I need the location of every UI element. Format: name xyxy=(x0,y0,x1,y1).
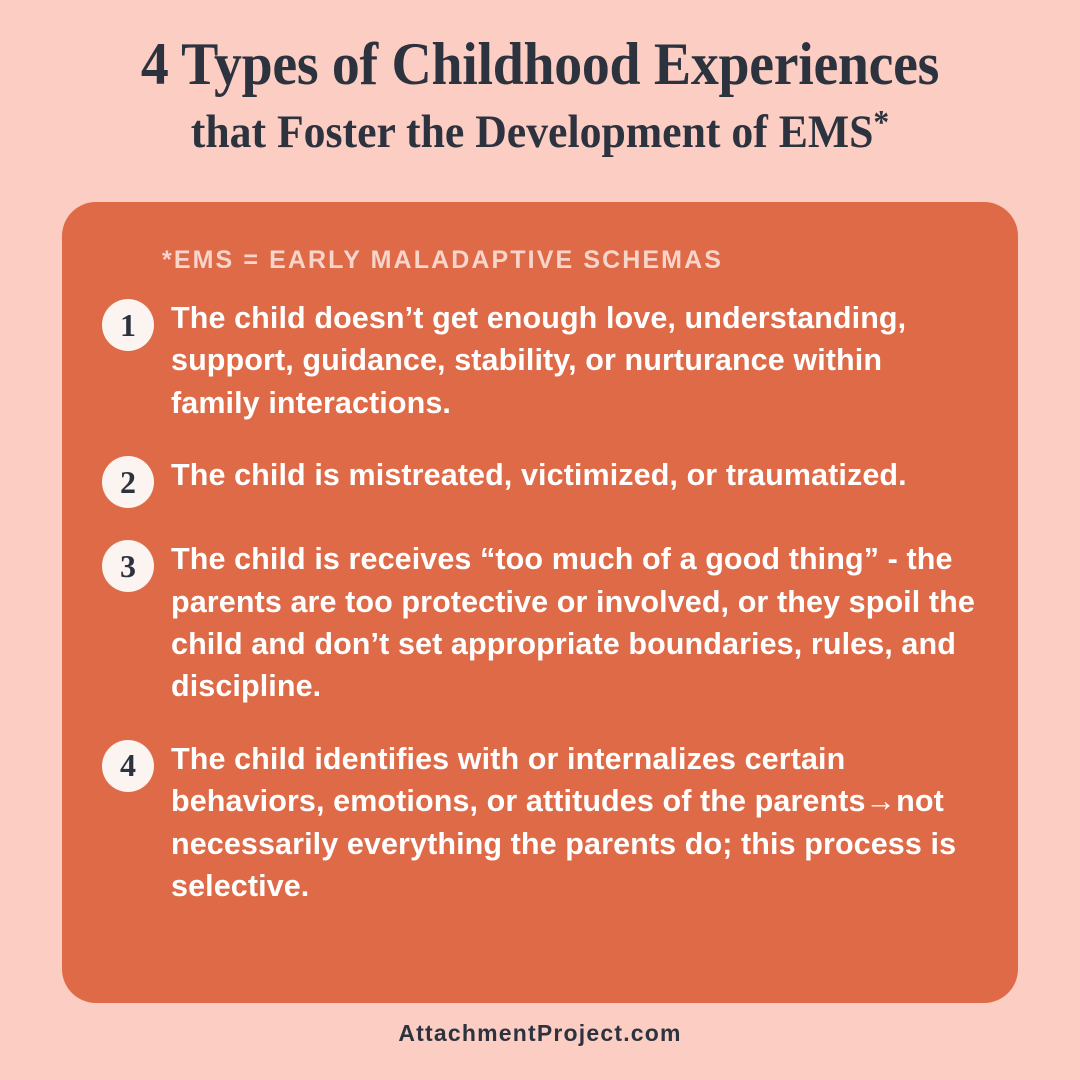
content-card: *EMS = EARLY MALADAPTIVE SCHEMAS 1 The c… xyxy=(62,202,1018,1003)
poster-header: 4 Types of Childhood Experiences that Fo… xyxy=(0,0,1080,158)
item-number-badge-1: 1 xyxy=(102,299,154,351)
item-text-4: The child identifies with or internalize… xyxy=(171,738,978,908)
experience-list: 1 The child doesn’t get enough love, und… xyxy=(102,297,978,907)
page-title: 4 Types of Childhood Experiences xyxy=(38,34,1042,95)
ems-footnote: *EMS = EARLY MALADAPTIVE SCHEMAS xyxy=(162,246,978,275)
item-text-3: The child is receives “too much of a goo… xyxy=(171,538,978,708)
list-item: 4 The child identifies with or internali… xyxy=(102,738,978,908)
item-text-2: The child is mistreated, victimized, or … xyxy=(171,454,907,496)
list-item: 1 The child doesn’t get enough love, und… xyxy=(102,297,978,424)
item-number-badge-4: 4 xyxy=(102,740,154,792)
asterisk-marker: * xyxy=(873,104,889,141)
item-number-badge-3: 3 xyxy=(102,540,154,592)
page-subtitle: that Foster the Development of EMS* xyxy=(38,105,1042,157)
item-number-badge-2: 2 xyxy=(102,456,154,508)
list-item: 3 The child is receives “too much of a g… xyxy=(102,538,978,708)
infographic-poster: 4 Types of Childhood Experiences that Fo… xyxy=(0,0,1080,1080)
list-item: 2 The child is mistreated, victimized, o… xyxy=(102,454,978,508)
page-subtitle-text: that Foster the Development of EMS xyxy=(191,106,874,158)
item-text-1: The child doesn’t get enough love, under… xyxy=(171,297,978,424)
footer-attribution[interactable]: AttachmentProject.com xyxy=(0,1020,1080,1047)
